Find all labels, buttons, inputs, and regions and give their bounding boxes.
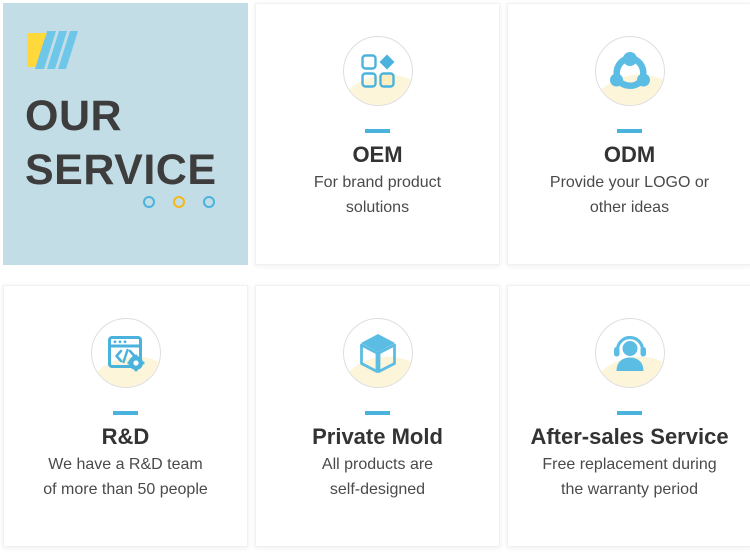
hero-title-line-2: SERVICE [25, 143, 248, 197]
card-description-line-2: of more than 50 people [43, 481, 208, 498]
title-accent-bar [365, 411, 390, 415]
code-window-gear-icon [107, 334, 145, 372]
title-accent-bar [617, 129, 642, 133]
card-title: OEM [352, 142, 402, 168]
card-description: Provide your LOGO or other ideas [550, 170, 709, 220]
card-description-line-1: For brand product [314, 174, 441, 191]
card-description-line-2: self-designed [330, 481, 425, 498]
title-accent-bar [113, 411, 138, 415]
service-card-private-mold[interactable]: Private Mold All products are self-desig… [255, 285, 500, 547]
service-card-oem[interactable]: OEM For brand product solutions [255, 3, 500, 265]
icon-badge [595, 318, 665, 388]
icon-badge [343, 36, 413, 106]
carousel-dot-3[interactable] [203, 196, 215, 208]
hero-title-line-1: OUR [25, 92, 122, 140]
service-card-after-sales[interactable]: After-sales Service Free replacement dur… [507, 285, 750, 547]
card-description-line-1: We have a R&D team [48, 456, 202, 473]
icon-badge [91, 318, 161, 388]
page-title: OUR SERVICE [25, 89, 248, 197]
share-nodes-icon [610, 52, 650, 90]
card-title: Private Mold [312, 424, 443, 450]
card-description-line-2: other ideas [590, 199, 669, 216]
card-title: ODM [604, 142, 655, 168]
service-grid: OUR SERVICE OEM For brand product soluti… [0, 0, 750, 558]
carousel-dots[interactable] [143, 196, 215, 208]
service-card-odm[interactable]: ODM Provide your LOGO or other ideas [507, 3, 750, 265]
card-description-line-1: All products are [322, 456, 433, 473]
card-title: After-sales Service [530, 424, 728, 450]
card-description: All products are self-designed [322, 452, 433, 502]
card-description: We have a R&D team of more than 50 peopl… [43, 452, 208, 502]
card-description-line-2: solutions [346, 199, 409, 216]
title-accent-bar [617, 411, 642, 415]
icon-badge [595, 36, 665, 106]
our-service-hero-panel: OUR SERVICE [3, 3, 248, 265]
headset-person-icon [610, 334, 650, 372]
four-squares-icon [360, 53, 396, 89]
stripes-logo-icon [25, 25, 83, 71]
card-description-line-2: the warranty period [561, 481, 698, 498]
isometric-cube-icon [358, 332, 398, 374]
icon-badge [343, 318, 413, 388]
card-title: R&D [102, 424, 150, 450]
carousel-dot-1[interactable] [143, 196, 155, 208]
service-card-rd[interactable]: R&D We have a R&D team of more than 50 p… [3, 285, 248, 547]
card-description: Free replacement during the warranty per… [542, 452, 716, 502]
carousel-dot-2[interactable] [173, 196, 185, 208]
title-accent-bar [365, 129, 390, 133]
card-description: For brand product solutions [314, 170, 441, 220]
card-description-line-1: Free replacement during [542, 456, 716, 473]
card-description-line-1: Provide your LOGO or [550, 174, 709, 191]
